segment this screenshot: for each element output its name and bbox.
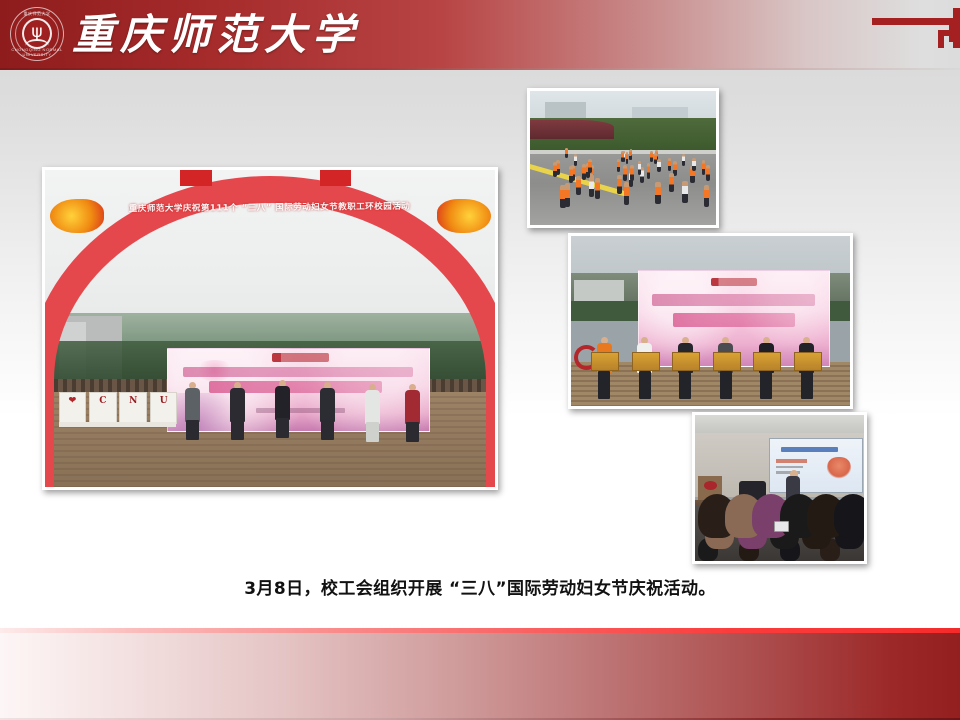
top-right-corner-ornament: [850, 0, 960, 60]
runner: [553, 162, 557, 177]
award-plaque: [591, 352, 619, 371]
award-ceremony-photo[interactable]: [568, 233, 853, 409]
runner: [647, 163, 651, 178]
footer-banner: [0, 628, 960, 720]
emblem-book-icon: [25, 39, 49, 46]
runner: [706, 165, 710, 181]
runner: [657, 159, 660, 173]
runner: [629, 150, 632, 161]
runner: [638, 161, 642, 175]
presentation-slide: 重庆师范大学 ψ CHONGQING NORMAL UNIVERSITY 重庆师…: [0, 0, 960, 720]
awardee: [755, 337, 777, 399]
health-lecture-photo[interactable]: [692, 412, 867, 564]
runner: [623, 165, 627, 181]
award-plaque: [672, 352, 700, 371]
runner: [682, 154, 685, 166]
runner: [682, 181, 687, 203]
awardee: [593, 337, 615, 399]
award-plaque: [713, 352, 741, 371]
audience-member: [834, 494, 864, 538]
runner: [565, 148, 567, 158]
runner: [565, 185, 571, 208]
runner: [621, 151, 624, 162]
awardee: [634, 337, 656, 399]
runner: [589, 177, 594, 197]
award-plaque: [632, 352, 660, 371]
header-banner: 重庆师范大学 ψ CHONGQING NORMAL UNIVERSITY 重庆师…: [0, 0, 960, 70]
runner: [630, 165, 634, 181]
runner: [650, 151, 653, 162]
projection-screen: [769, 438, 862, 493]
award-plaque: [794, 352, 822, 371]
runner: [576, 176, 581, 196]
awardee: [674, 337, 696, 399]
slide-caption: 3月8日，校工会组织开展 “三八”国际劳动妇女节庆祝活动。: [0, 574, 960, 599]
emblem-bottom-arc-text: CHONGQING NORMAL UNIVERSITY: [11, 47, 63, 57]
runner: [617, 159, 620, 173]
campus-run-photo[interactable]: [527, 88, 719, 228]
smartphone-icon: [774, 521, 789, 532]
university-name-title: 重庆师范大学: [72, 6, 360, 64]
runner: [569, 166, 573, 182]
runner: [617, 175, 622, 194]
runner: [692, 158, 695, 171]
university-emblem-icon: 重庆师范大学 ψ CHONGQING NORMAL UNIVERSITY: [10, 7, 64, 61]
award-plaque: [753, 352, 781, 371]
arch-banner-text: 重庆师范大学庆祝第111个 “三八” 国际劳动妇女节教职工环校园活动: [81, 200, 460, 311]
runner: [595, 178, 600, 199]
runner: [574, 154, 577, 166]
runner: [655, 182, 661, 204]
awardee: [796, 337, 818, 399]
runner: [704, 185, 710, 208]
runner: [624, 182, 630, 204]
runner: [668, 158, 671, 171]
runner: [669, 173, 674, 192]
emblem-top-arc-text: 重庆师范大学: [11, 11, 63, 17]
awardee: [715, 337, 737, 399]
runner: [588, 159, 591, 173]
arch-and-stage-photo[interactable]: ❤ C N U 重庆师范大学庆祝第111个 “三八” 国际劳动妇女节教职工环校园…: [42, 167, 498, 490]
runner: [702, 160, 706, 174]
runner: [654, 153, 657, 165]
